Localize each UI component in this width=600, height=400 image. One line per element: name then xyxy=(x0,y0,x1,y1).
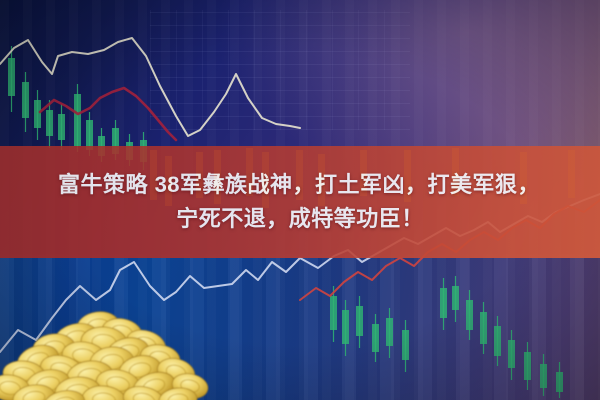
headline-line-2: 宁死不退，成特等功臣！ xyxy=(176,204,424,234)
headline-line-1: 富牛策略 38军彝族战神，打土军凶，打美军狠， xyxy=(58,170,542,200)
headline-banner: 富牛策略 38军彝族战神，打土军凶，打美军狠， 宁死不退，成特等功臣！ xyxy=(0,146,600,258)
gold-coin-pile xyxy=(0,290,209,400)
thumbnail-image: 富牛策略 38军彝族战神，打土军凶，打美军狠， 宁死不退，成特等功臣！ xyxy=(0,0,600,400)
